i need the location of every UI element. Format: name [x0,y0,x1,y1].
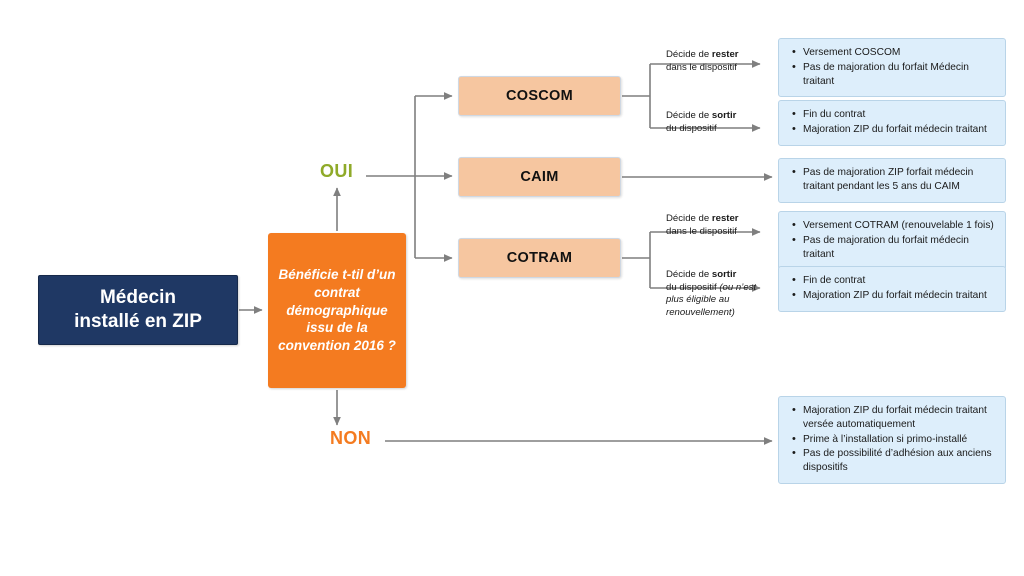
contract-box-caim: CAIM [458,157,621,197]
contract-box-cotram: COTRAM [458,238,621,278]
outcome-box-cotram-rester: Versement COTRAM (renouvelable 1 fois)Pa… [778,211,1006,270]
annotation-prefix: Décide de [666,269,712,280]
annotation-keyword: rester [712,49,739,60]
outcome-item: Fin de contrat [803,274,999,288]
annotation-coscom-rester: Décide de rester dans le dispositif [666,49,774,74]
annotation-prefix: Décide de [666,49,712,60]
start-node-line1: Médecin [100,287,176,308]
outcome-item: Pas de majoration ZIP forfait médecin tr… [803,166,999,194]
annotation-rest: dans le dispositif [666,226,737,237]
annotation-keyword: sortir [712,269,737,280]
branch-label-non: NON [330,428,371,449]
annotation-prefix: Décide de [666,213,712,224]
flowchart-canvas: Médecin installé en ZIP Bénéficie t-til … [0,0,1024,576]
outcome-box-coscom-sortir: Fin du contratMajoration ZIP du forfait … [778,100,1006,146]
annotation-rest: du dispositif [666,282,719,293]
start-node-line2: installé en ZIP [74,311,202,332]
outcome-list: Fin de contratMajoration ZIP du forfait … [783,274,999,303]
outcome-list: Majoration ZIP du forfait médecin traita… [783,404,999,475]
branch-label-oui: OUI [320,161,353,182]
start-node-medecin-zip: Médecin installé en ZIP [38,275,238,345]
annotation-rest: dans le dispositif [666,62,737,73]
annotation-cotram-rester: Décide de rester dans le dispositif [666,213,774,238]
outcome-item: Fin du contrat [803,108,999,122]
outcome-list: Versement COTRAM (renouvelable 1 fois)Pa… [783,219,999,261]
outcome-box-caim: Pas de majoration ZIP forfait médecin tr… [778,158,1006,203]
annotation-keyword: rester [712,213,739,224]
decision-node-text: Bénéficie t-til d’un contrat démographiq… [276,266,398,356]
contract-box-coscom: COSCOM [458,76,621,116]
annotation-cotram-sortir: Décide de sortir du dispositif (ou n’est… [666,269,774,320]
outcome-item: Versement COTRAM (renouvelable 1 fois) [803,219,999,233]
decision-node-contrat-demographique: Bénéficie t-til d’un contrat démographiq… [268,233,406,388]
outcome-item: Majoration ZIP du forfait médecin traita… [803,404,999,432]
outcome-box-coscom-rester: Versement COSCOMPas de majoration du for… [778,38,1006,97]
outcome-item: Pas de possibilité d’adhésion aux ancien… [803,447,999,475]
outcome-box-cotram-sortir: Fin de contratMajoration ZIP du forfait … [778,266,1006,312]
outcome-item: Majoration ZIP du forfait médecin traita… [803,289,999,303]
outcome-list: Pas de majoration ZIP forfait médecin tr… [783,166,999,194]
outcome-item: Majoration ZIP du forfait médecin traita… [803,123,999,137]
outcome-item: Pas de majoration du forfait Médecin tra… [803,61,999,89]
outcome-box-non-branch: Majoration ZIP du forfait médecin traita… [778,396,1006,484]
outcome-item: Versement COSCOM [803,46,999,60]
outcome-item: Prime à l’installation si primo-installé [803,433,999,447]
annotation-coscom-sortir: Décide de sortir du dispositif [666,110,774,135]
outcome-item: Pas de majoration du forfait médecin tra… [803,234,999,262]
outcome-list: Fin du contratMajoration ZIP du forfait … [783,108,999,137]
annotation-prefix: Décide de [666,110,712,121]
outcome-list: Versement COSCOMPas de majoration du for… [783,46,999,88]
annotation-rest: du dispositif [666,123,717,134]
annotation-keyword: sortir [712,110,737,121]
